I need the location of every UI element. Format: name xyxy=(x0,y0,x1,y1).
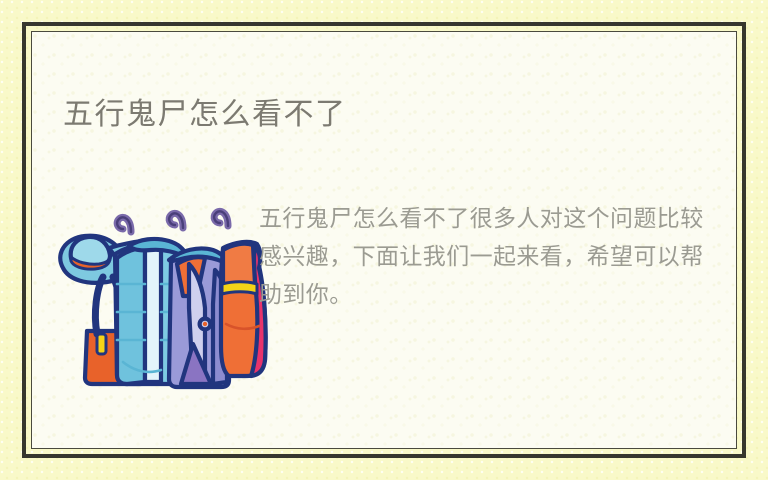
page-title: 五行鬼尸怎么看不了 xyxy=(63,95,347,135)
page-background: 五行鬼尸怎么看不了 xyxy=(0,0,768,480)
content-card: 五行鬼尸怎么看不了 xyxy=(31,31,737,449)
article-body-text: 五行鬼尸怎么看不了很多人对这个问题比较感兴趣，下面让我们一起来看，希望可以帮助到… xyxy=(259,200,711,314)
clothes-rack-illustration xyxy=(37,184,269,396)
